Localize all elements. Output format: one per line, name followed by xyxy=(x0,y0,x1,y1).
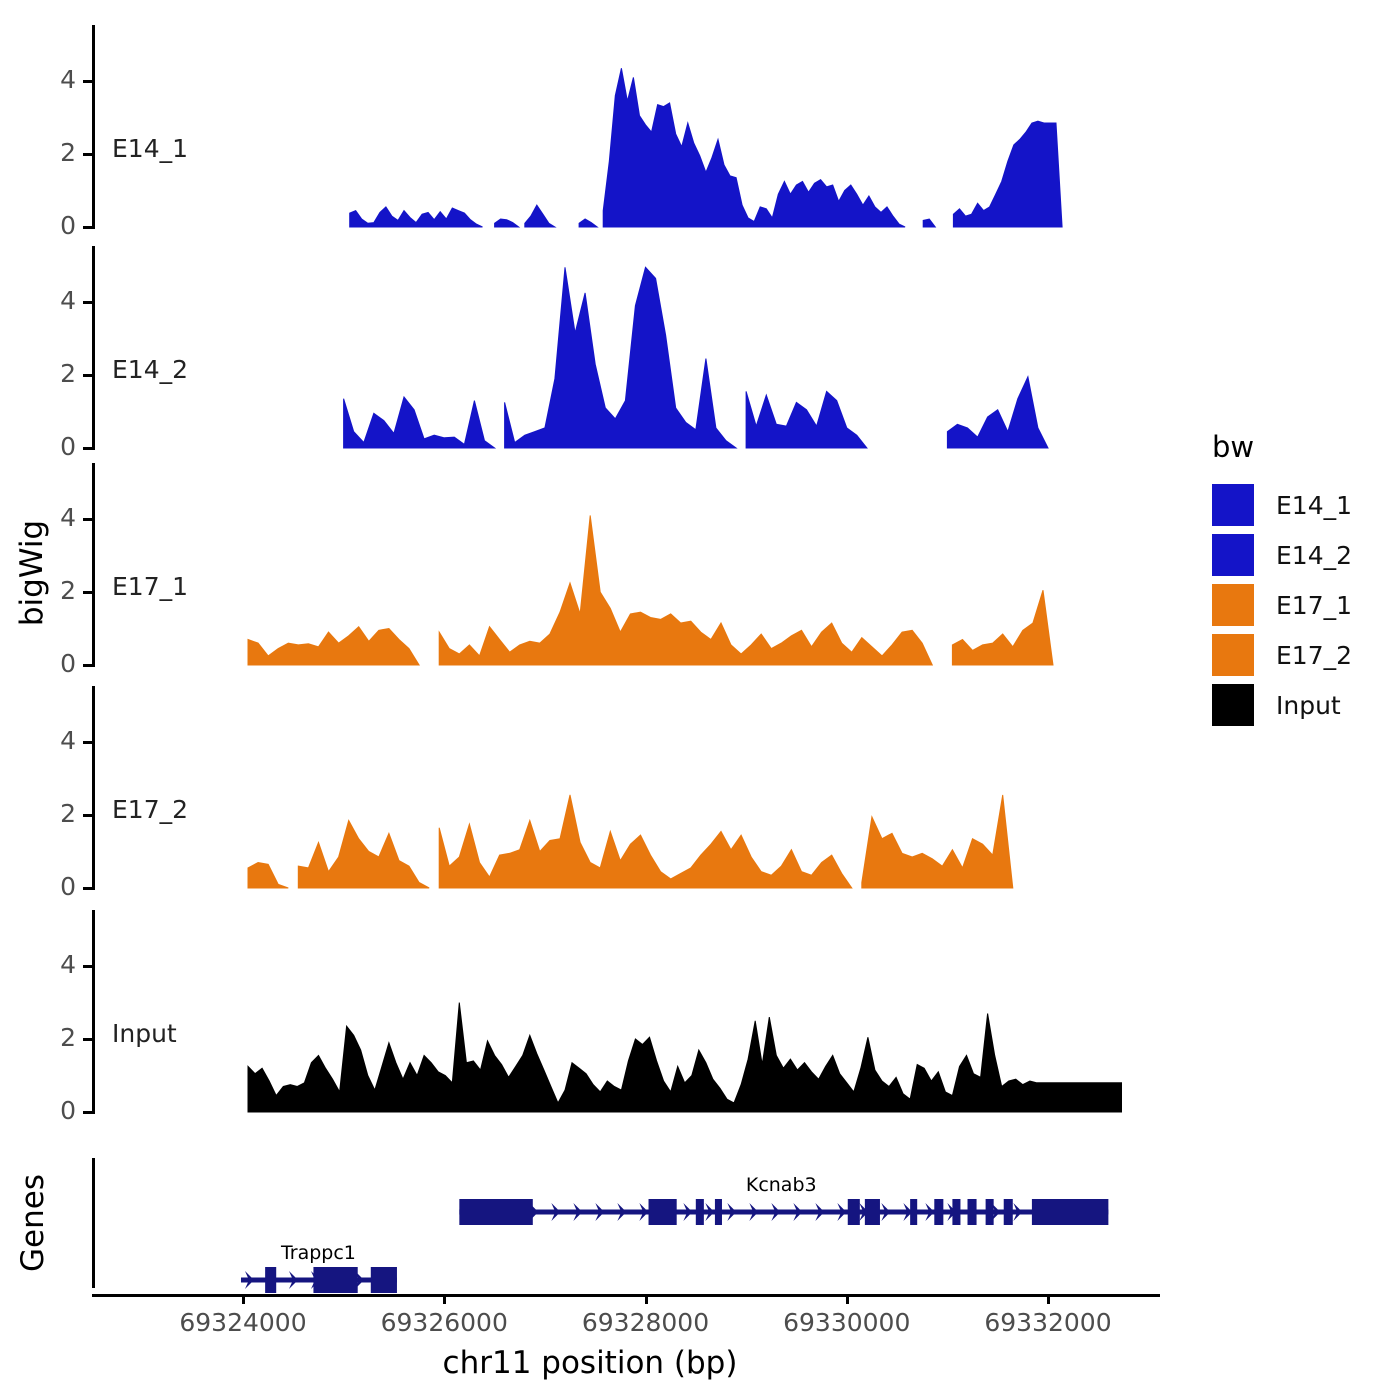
legend-swatch-input xyxy=(1212,684,1254,726)
y-ticklabel-e17_2-0: 0 xyxy=(36,872,76,901)
x-axis-title: chr11 position (bp) xyxy=(0,1345,1180,1381)
legend-label-e14_1: E14_1 xyxy=(1276,491,1352,520)
track-label-input: Input xyxy=(112,1019,177,1048)
track-label-e14_1: E14_1 xyxy=(112,134,188,163)
y-ticklabel-e14_2-0: 0 xyxy=(36,432,76,461)
track-label-e17_1: E17_1 xyxy=(112,572,188,601)
y-tick-e17_1-4 xyxy=(83,518,92,521)
legend-label-input: Input xyxy=(1276,691,1341,720)
legend-swatch-e17_2 xyxy=(1212,634,1254,676)
x-tick-69324000 xyxy=(242,1294,245,1304)
gene-exon-block xyxy=(986,1199,994,1225)
legend-title: bw xyxy=(1212,430,1352,464)
gene-label-kcnab3: Kcnab3 xyxy=(746,1174,817,1196)
x-ticklabel-69326000: 69326000 xyxy=(344,1308,544,1337)
x-ticklabel-69324000: 69324000 xyxy=(143,1308,343,1337)
legend-label-e17_1: E17_1 xyxy=(1276,591,1352,620)
gene-exon-block xyxy=(696,1199,704,1225)
legend-item-e14_2[interactable]: E14_2 xyxy=(1212,532,1352,578)
track-label-e17_2: E17_2 xyxy=(112,795,188,824)
y-tick-e14_1-4 xyxy=(83,80,92,83)
y-ticklabel-e17_2-2: 2 xyxy=(36,799,76,828)
legend-item-input[interactable]: Input xyxy=(1212,682,1352,728)
y-tick-e14_2-2 xyxy=(83,374,92,377)
legend-item-e14_1[interactable]: E14_1 xyxy=(1212,482,1352,528)
x-tick-69330000 xyxy=(846,1294,849,1304)
gene-exon-block xyxy=(934,1199,943,1225)
y-tick-e14_2-0 xyxy=(83,447,92,450)
y-tick-e14_2-4 xyxy=(83,301,92,304)
legend: bw E14_1E14_2E17_1E17_2Input xyxy=(1212,430,1352,732)
y-ticklabel-e14_1-2: 2 xyxy=(36,138,76,167)
y-axis-line-input xyxy=(92,910,95,1114)
legend-label-e14_2: E14_2 xyxy=(1276,541,1352,570)
legend-swatch-e14_1 xyxy=(1212,484,1254,526)
gene-exon-block xyxy=(313,1267,357,1293)
y-ticklabel-e14_1-4: 4 xyxy=(36,65,76,94)
gene-exon-block xyxy=(649,1199,677,1225)
y-axis-title-bigwig: bigWig xyxy=(14,503,50,643)
track-label-e14_2: E14_2 xyxy=(112,355,188,384)
y-ticklabel-input-0: 0 xyxy=(36,1096,76,1125)
y-ticklabel-e14_2-2: 2 xyxy=(36,359,76,388)
x-ticklabel-69328000: 69328000 xyxy=(546,1308,746,1337)
gene-exon-block xyxy=(952,1199,960,1225)
y-axis-line-e14_2 xyxy=(92,246,95,450)
y-axis-line-e17_2 xyxy=(92,686,95,890)
y-ticklabel-e14_1-0: 0 xyxy=(36,211,76,240)
y-tick-e17_2-4 xyxy=(83,741,92,744)
legend-swatch-e17_1 xyxy=(1212,584,1254,626)
y-tick-e17_1-0 xyxy=(83,664,92,667)
y-tick-input-2 xyxy=(83,1038,92,1041)
x-tick-69332000 xyxy=(1047,1294,1050,1304)
x-ticklabel-69332000: 69332000 xyxy=(948,1308,1148,1337)
x-tick-69326000 xyxy=(443,1294,446,1304)
x-ticklabel-69330000: 69330000 xyxy=(747,1308,947,1337)
y-tick-e17_2-2 xyxy=(83,814,92,817)
gene-exon-block xyxy=(715,1199,722,1225)
gene-models xyxy=(0,1150,1175,1295)
genome-browser-figure: bigWig Genes 024E14_1024E14_2024E17_1024… xyxy=(0,0,1400,1400)
x-axis-line xyxy=(92,1294,1160,1297)
gene-exon-block xyxy=(865,1199,880,1225)
y-tick-e17_1-2 xyxy=(83,591,92,594)
gene-exon-block xyxy=(848,1199,860,1225)
gene-exon-block xyxy=(371,1267,397,1293)
y-tick-e14_1-0 xyxy=(83,226,92,229)
gene-exon-block xyxy=(910,1199,917,1225)
y-ticklabel-e17_2-4: 4 xyxy=(36,726,76,755)
gene-label-trappc1: Trappc1 xyxy=(281,1242,356,1264)
gene-exon-block xyxy=(265,1267,276,1293)
gene-exon-block xyxy=(459,1199,532,1225)
x-tick-69328000 xyxy=(645,1294,648,1304)
legend-items: E14_1E14_2E17_1E17_2Input xyxy=(1212,482,1352,728)
y-tick-e14_1-2 xyxy=(83,153,92,156)
y-tick-input-0 xyxy=(83,1111,92,1114)
y-tick-input-4 xyxy=(83,965,92,968)
legend-item-e17_2[interactable]: E17_2 xyxy=(1212,632,1352,678)
y-ticklabel-e17_1-0: 0 xyxy=(36,649,76,678)
y-tick-e17_2-0 xyxy=(83,887,92,890)
legend-label-e17_2: E17_2 xyxy=(1276,641,1352,670)
gene-track-panel xyxy=(0,1150,1175,1295)
legend-item-e17_1[interactable]: E17_1 xyxy=(1212,582,1352,628)
legend-swatch-e14_2 xyxy=(1212,534,1254,576)
gene-exon-block xyxy=(1004,1199,1013,1225)
gene-exon-block xyxy=(968,1199,977,1225)
gene-exon-block xyxy=(1032,1199,1108,1225)
y-ticklabel-input-2: 2 xyxy=(36,1023,76,1052)
y-ticklabel-input-4: 4 xyxy=(36,950,76,979)
y-ticklabel-e14_2-4: 4 xyxy=(36,286,76,315)
y-axis-line-e14_1 xyxy=(92,25,95,229)
y-axis-line-e17_1 xyxy=(92,463,95,667)
